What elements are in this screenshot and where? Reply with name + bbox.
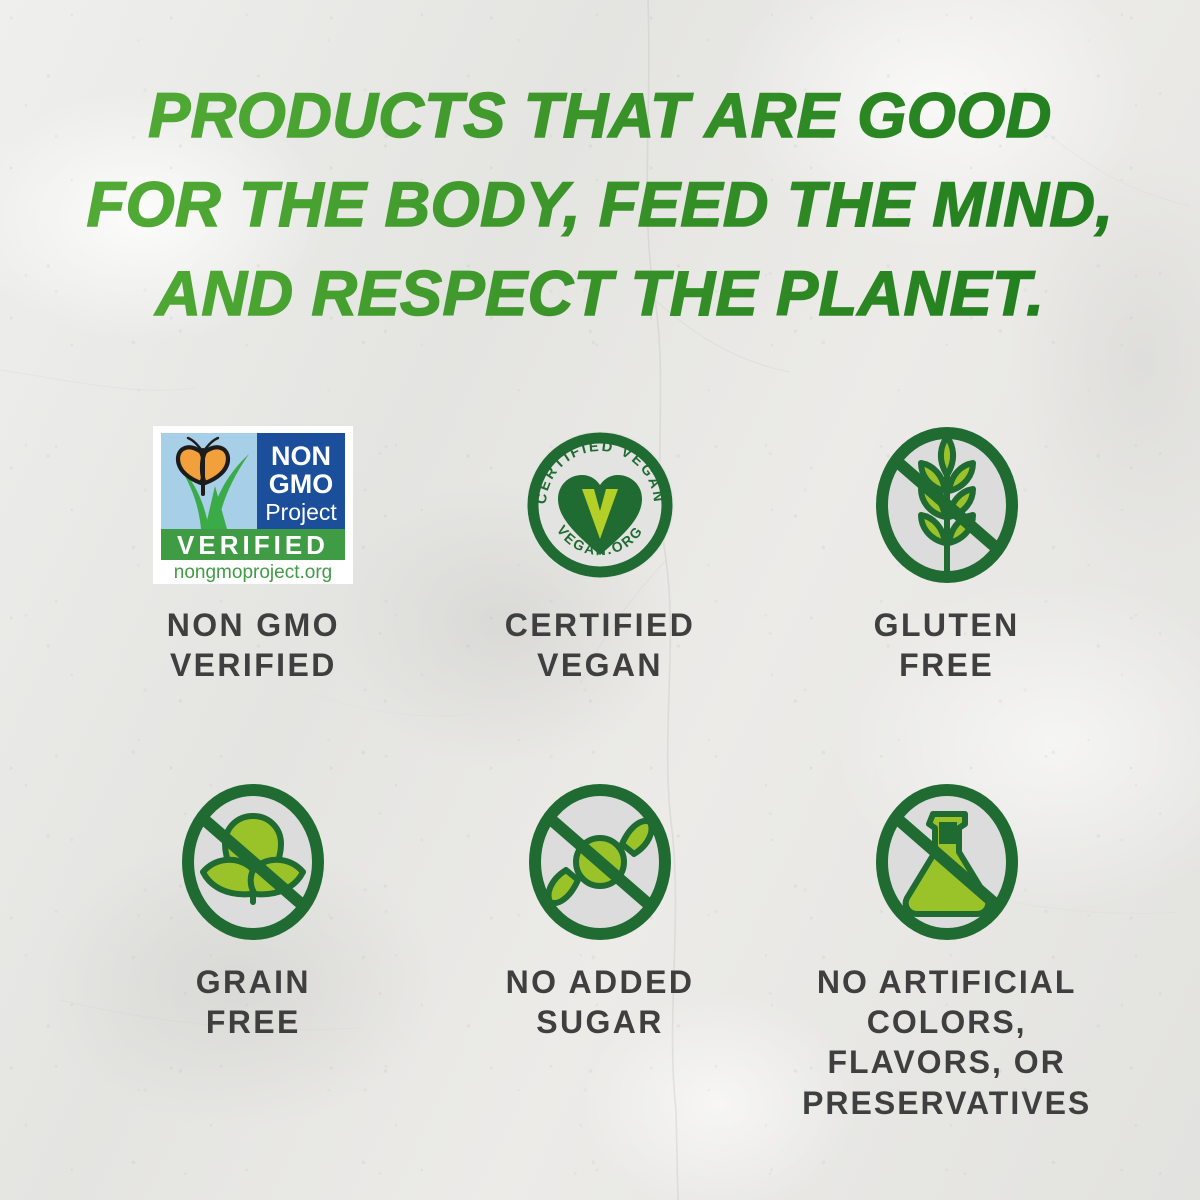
seal-url-text: nongmoproject.org: [174, 562, 332, 583]
badge-caption: NO ADDED SUGAR: [506, 962, 695, 1043]
seal-gmo-text: GMO: [269, 469, 334, 499]
seal-project-text: Project: [266, 499, 338, 525]
badge-no-added-sugar: NO ADDED SUGAR: [427, 782, 774, 1123]
no-candy-icon: [524, 782, 676, 942]
badge-caption: GLUTEN FREE: [874, 605, 1020, 686]
badge-caption: NO ARTIFICIAL COLORS, FLAVORS, OR PRESER…: [802, 962, 1091, 1123]
no-wheat-icon: [871, 425, 1023, 585]
badge-gluten-free: GLUTEN FREE: [773, 425, 1120, 686]
seal-verified-text: VERIFIED: [177, 530, 329, 560]
badge-caption: NON GMO VERIFIED: [167, 605, 340, 686]
seal-non-text: NON: [271, 441, 331, 471]
certified-vegan-seal-icon: CERTIFIED VEGAN VEGAN.ORG: [524, 425, 676, 585]
product-claims-infographic: PRODUCTS THAT ARE GOOD FOR THE BODY, FEE…: [0, 0, 1200, 1200]
non-gmo-project-verified-seal-icon: NON GMO Project VERIFIED nongmoproject.o…: [153, 425, 353, 585]
badge-no-artificial: NO ARTIFICIAL COLORS, FLAVORS, OR PRESER…: [773, 782, 1120, 1123]
badge-grid: NON GMO Project VERIFIED nongmoproject.o…: [80, 425, 1120, 1123]
badge-caption: CERTIFIED VEGAN: [505, 605, 696, 686]
badge-grain-free: GRAIN FREE: [80, 782, 427, 1123]
badge-non-gmo-verified: NON GMO Project VERIFIED nongmoproject.o…: [80, 425, 427, 686]
badge-caption: GRAIN FREE: [196, 962, 311, 1043]
badge-certified-vegan: CERTIFIED VEGAN VEGAN.ORG CERTIFIED VEGA…: [427, 425, 774, 686]
no-flask-icon: [871, 782, 1023, 942]
page-headline: PRODUCTS THAT ARE GOOD FOR THE BODY, FEE…: [0, 72, 1200, 338]
no-grain-leaves-icon: [177, 782, 329, 942]
